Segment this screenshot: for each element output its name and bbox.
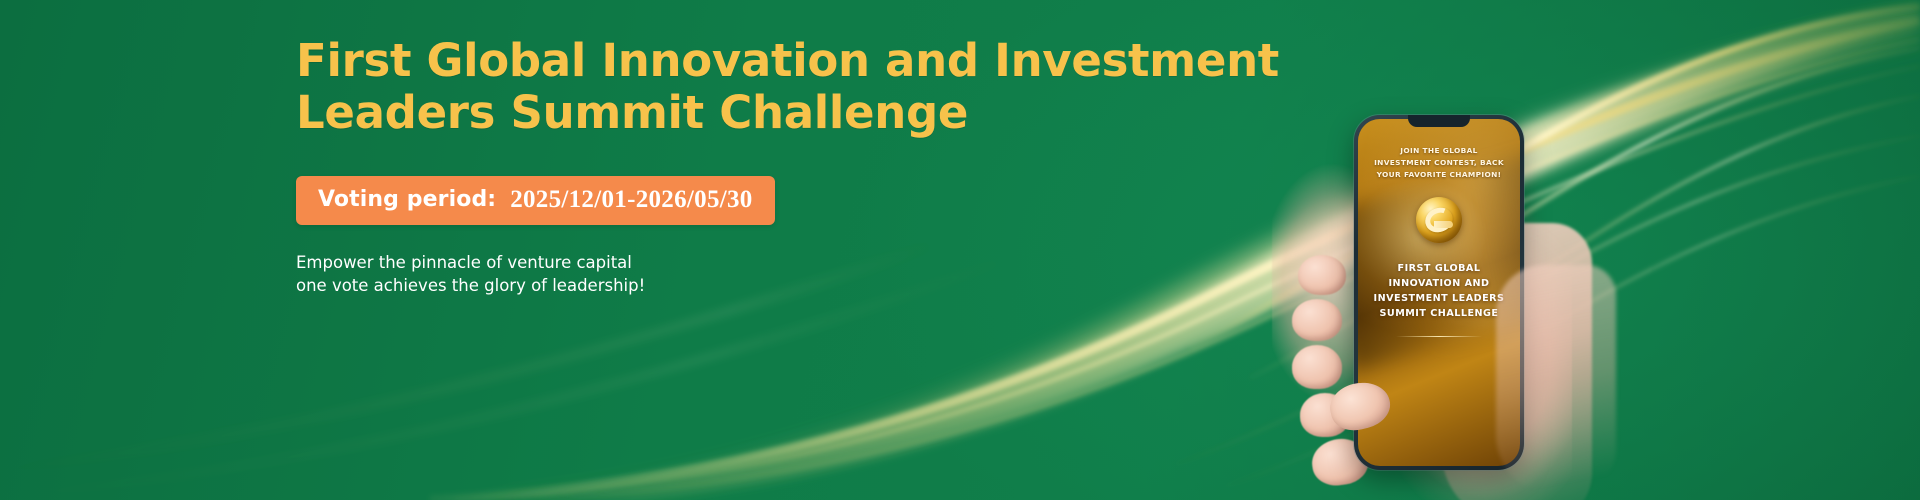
finger-2 [1292,299,1342,341]
voting-period-badge: Voting period: 2025/12/01-2026/05/30 [296,176,775,225]
hand-holding-phone: JOIN THE GLOBAL INVESTMENT CONTEST, BACK… [1300,115,1620,500]
tagline-line-1: Empower the pinnacle of venture capital [296,251,1056,274]
finger-3 [1292,345,1342,389]
page-title: First Global Innovation and Investment L… [296,38,1056,136]
headline-line-1: First Global Innovation and Investment [296,38,1056,84]
tagline-line-2: one vote achieves the glory of leadershi… [296,274,1056,297]
phone-notch [1408,115,1470,127]
phone-screen-divider [1396,336,1482,338]
headline-line-2: Leaders Summit Challenge [296,90,1056,136]
finger-1 [1298,255,1346,295]
voting-period-value: 2025/12/01-2026/05/30 [510,186,752,214]
first-global-sphere-logo [1416,197,1462,243]
fingers-foreground [1496,265,1616,495]
logo-bar-shape [1434,221,1453,228]
banner-copy-block: First Global Innovation and Investment L… [296,38,1056,298]
voting-period-label: Voting period: [318,187,496,212]
phone-screen-top-text: JOIN THE GLOBAL INVESTMENT CONTEST, BACK… [1371,145,1507,181]
phone-screen-title: FIRST GLOBAL INNOVATION AND INVESTMENT L… [1371,261,1507,322]
promo-banner: First Global Innovation and Investment L… [0,0,1920,500]
tagline: Empower the pinnacle of venture capital … [296,251,1056,298]
